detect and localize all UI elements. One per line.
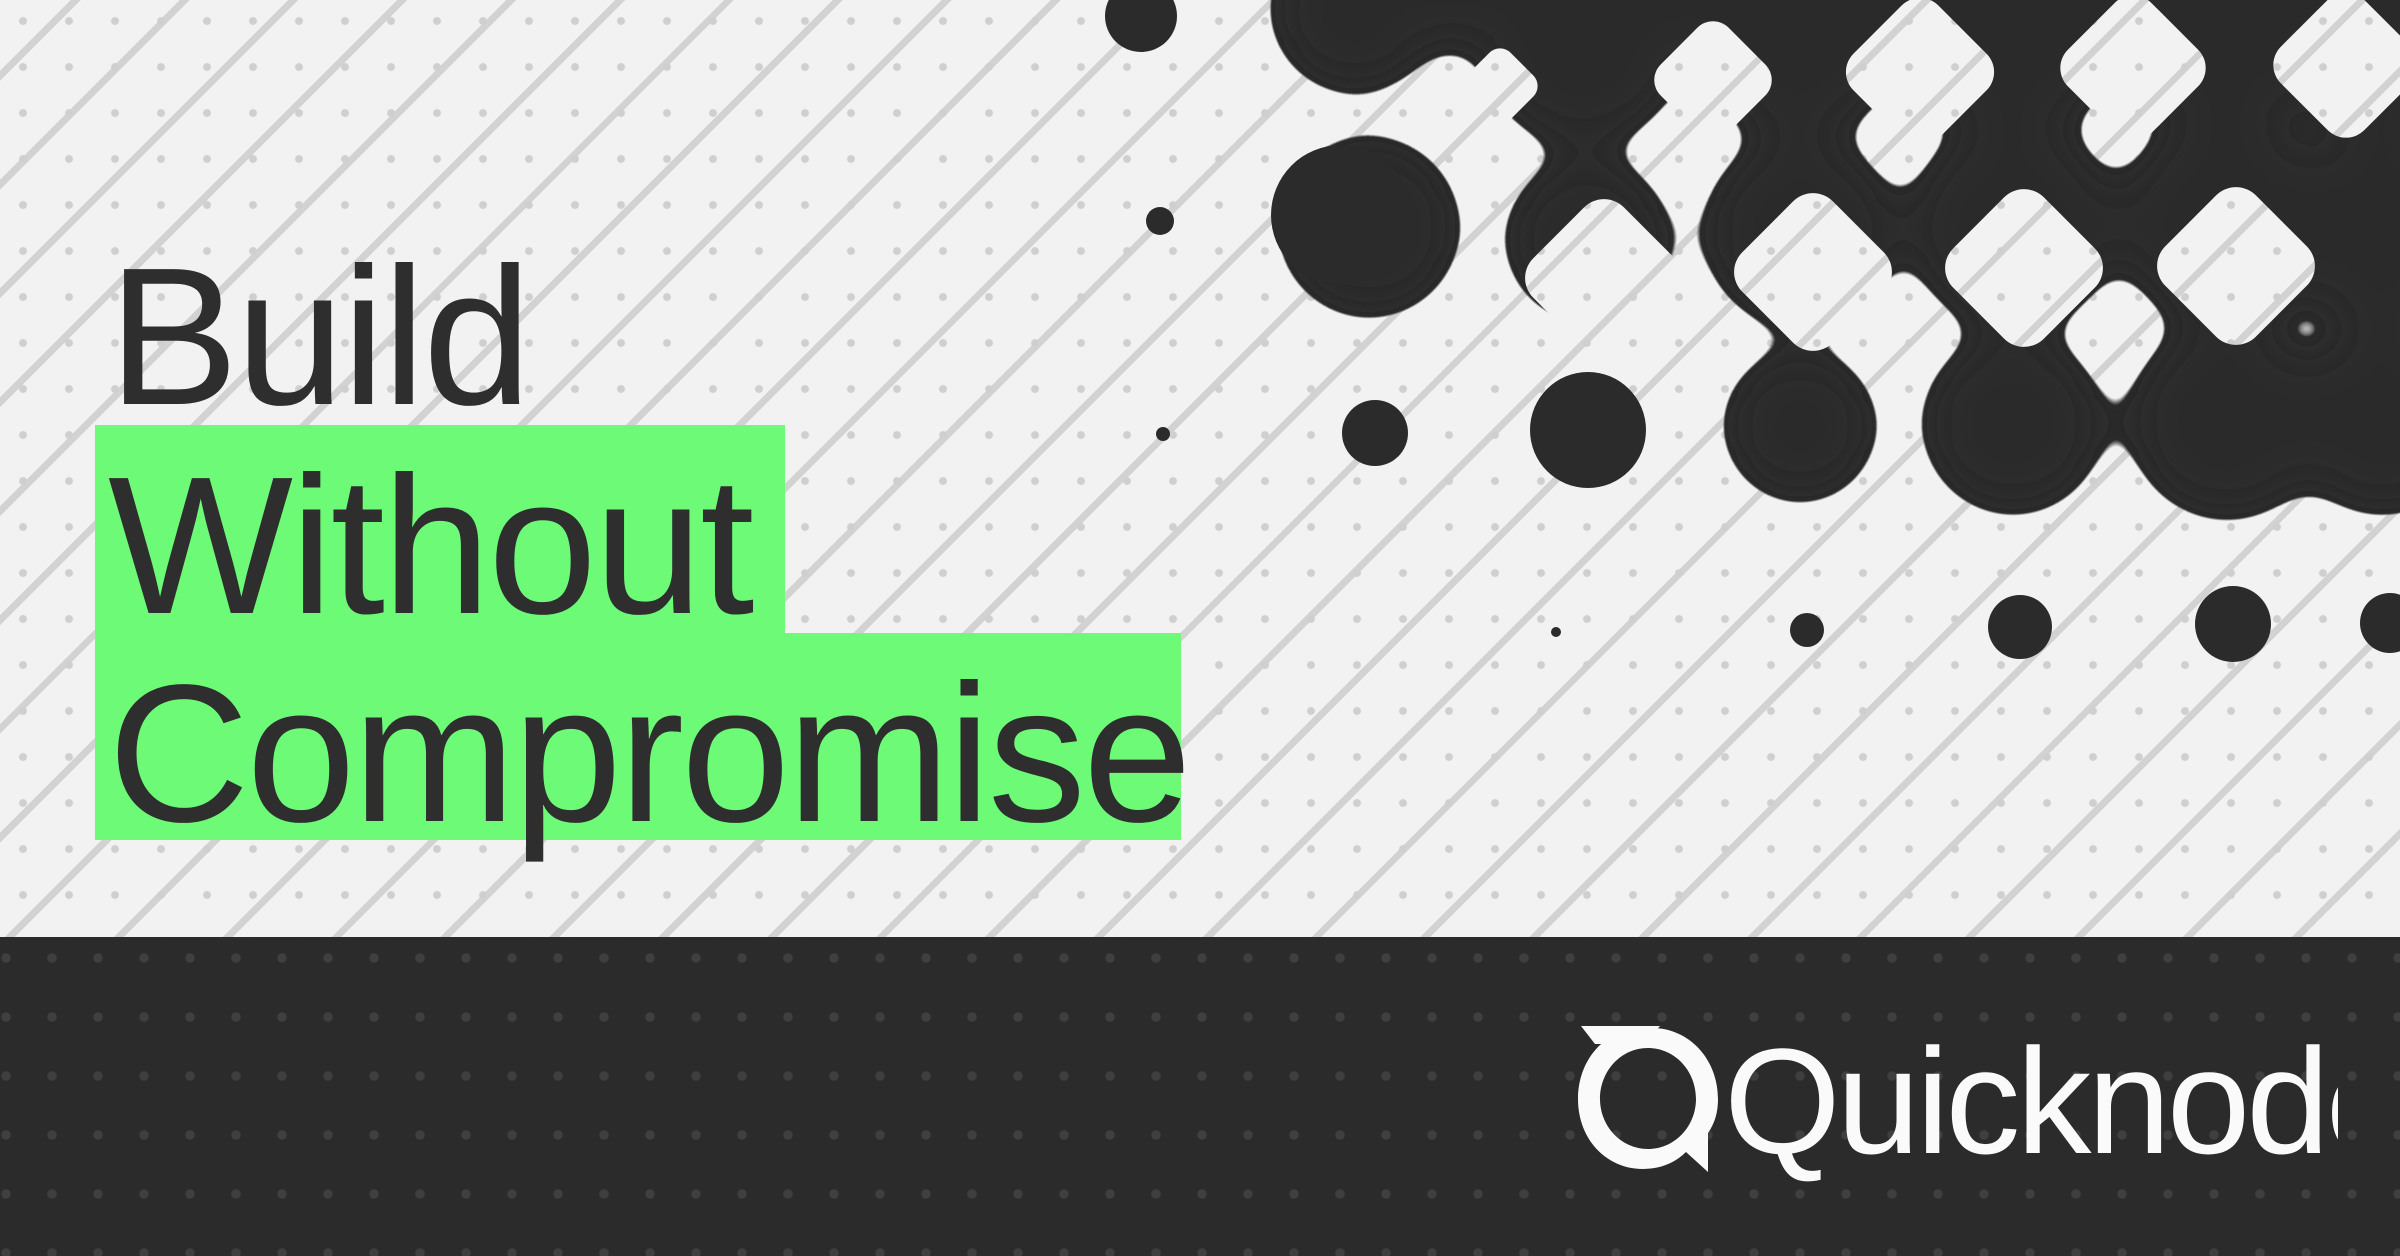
headline-highlight-line-3 <box>95 633 1181 840</box>
background-pattern-texture <box>0 0 2400 937</box>
headline-line-1: Build <box>108 239 529 435</box>
headline-line-3: Compromise <box>108 656 1189 852</box>
quicknode-logo[interactable]: Quicknode <box>1548 1012 2338 1182</box>
footer-bar: Quicknode <box>0 937 2400 1256</box>
headline-highlight-line-2 <box>95 425 785 633</box>
quicknode-wordmark-text: Quicknode <box>1724 1017 2338 1182</box>
headline-block: Build Without Compromise <box>0 0 2400 937</box>
hero-section: Build Without Compromise <box>0 0 2400 937</box>
headline-line-2: Without <box>108 448 751 644</box>
halftone-dissolve-artwork <box>0 0 2400 937</box>
quicknode-hero-banner: Build Without Compromise Quicknode <box>0 0 2400 1256</box>
